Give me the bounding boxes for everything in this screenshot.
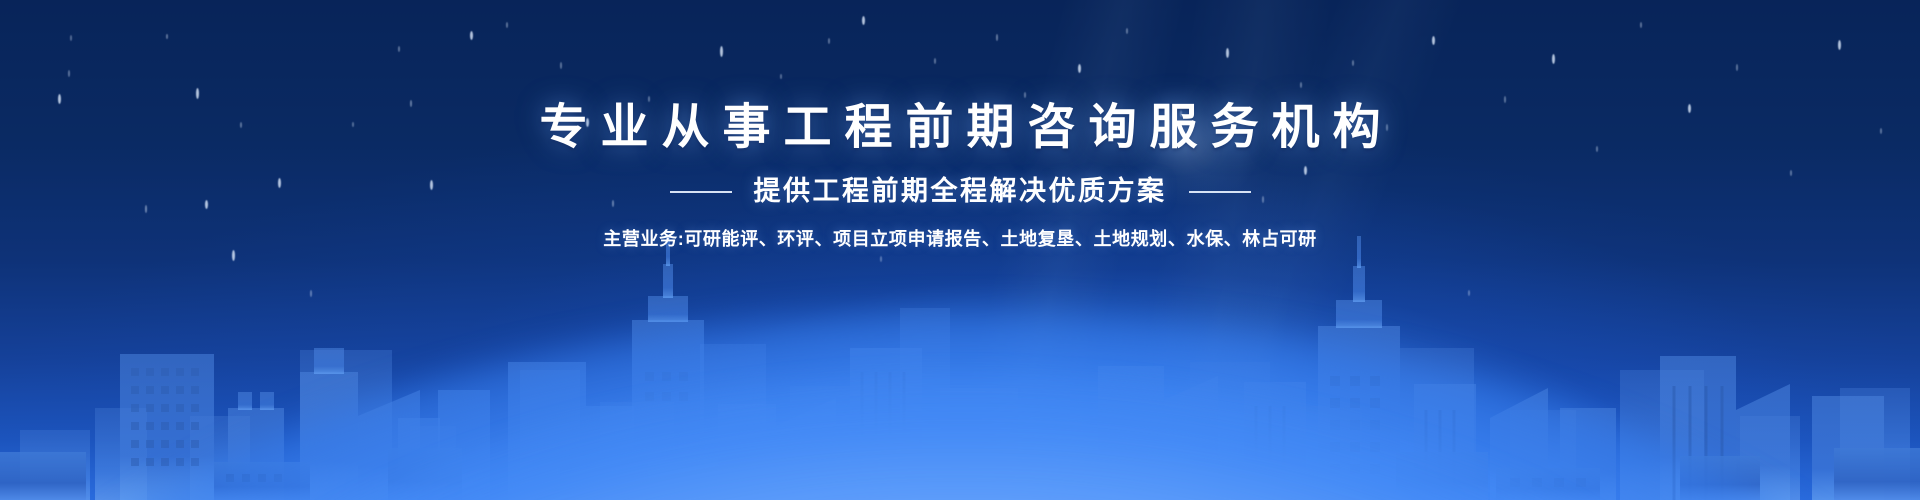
banner-title: 专业从事工程前期咨询服务机构 [0,104,1920,152]
banner-subtitle: 提供工程前期全程解决优质方案 [754,178,1167,205]
banner-services-line: 主营业务:可研能评、环评、项目立项申请报告、土地复垦、土地规划、水保、林占可研 [0,230,1920,248]
banner-content: 专业从事工程前期咨询服务机构 提供工程前期全程解决优质方案 主营业务:可研能评、… [0,104,1920,248]
hero-banner: 专业从事工程前期咨询服务机构 提供工程前期全程解决优质方案 主营业务:可研能评、… [0,0,1920,500]
banner-subtitle-row: 提供工程前期全程解决优质方案 [0,178,1920,205]
dash-left-icon [670,191,732,193]
dash-right-icon [1189,191,1251,193]
city-skyline [0,220,1920,500]
